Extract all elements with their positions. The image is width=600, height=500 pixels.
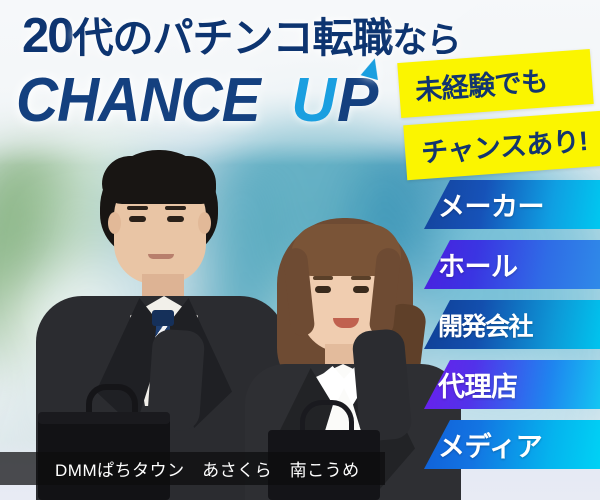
caption-bar: DMMぱちタウン あさくら 南こうめ — [0, 452, 385, 485]
caption-text: DMMぱちタウン あさくら 南こうめ — [55, 456, 360, 481]
category-label-agency: 代理店 — [438, 365, 518, 404]
headline-suffix: なら — [393, 21, 461, 60]
advertisement-banner[interactable]: 20代のパチンコ転職なら CHANCE U P 未経験でも チャンスあり! メー… — [0, 0, 600, 500]
badge-no-experience: 未経験でも — [398, 49, 594, 118]
chance-up-logo: CHANCE U P — [16, 70, 378, 132]
headline-line-1: 20代のパチンコ転職なら — [22, 12, 461, 61]
logo-word-up: U P — [291, 70, 378, 132]
headline: 20代のパチンコ転職なら — [22, 12, 461, 61]
headline-number: 20 — [22, 9, 73, 63]
headline-main-text: 代のパチンコ転職 — [73, 15, 393, 61]
category-list: メーカー ホール 開発会社 代理店 メディア — [424, 180, 600, 480]
logo-letter-p: P — [337, 70, 378, 132]
category-label-media: メディア — [438, 425, 542, 464]
category-label-maker: メーカー — [438, 185, 544, 224]
category-item-media[interactable]: メディア — [424, 420, 600, 469]
badge-chance-available: チャンスあり! — [404, 111, 600, 180]
yellow-badges: 未経験でも チャンスあり! — [399, 56, 600, 173]
category-item-agency[interactable]: 代理店 — [424, 360, 600, 409]
logo-word-chance: CHANCE — [16, 70, 260, 132]
category-item-hall[interactable]: ホール — [424, 240, 600, 289]
category-item-maker[interactable]: メーカー — [424, 180, 600, 229]
category-item-developer[interactable]: 開発会社 — [424, 300, 600, 349]
briefcase-left-top — [38, 412, 170, 424]
category-label-hall: ホール — [438, 245, 518, 284]
category-label-developer: 開発会社 — [438, 307, 532, 343]
female-arm — [351, 328, 412, 442]
logo-letter-u: U — [291, 70, 336, 132]
